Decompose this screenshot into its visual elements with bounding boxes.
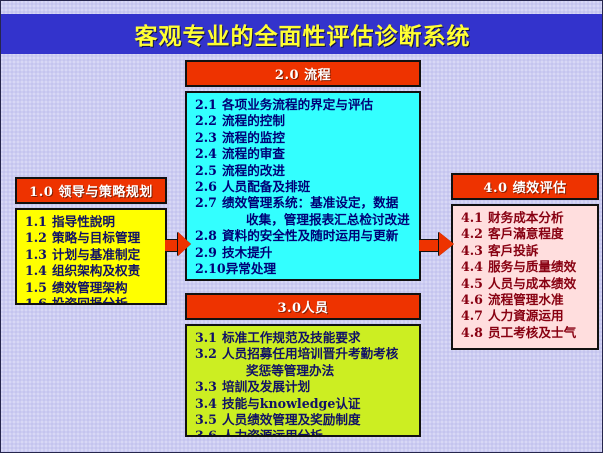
item-number: 2.9 xyxy=(195,245,222,261)
item-number: 1.4 xyxy=(25,263,52,279)
item-text: 投资回报分析 xyxy=(52,296,128,305)
item-number: 3.6 xyxy=(195,428,222,437)
list-item: 4.6 流程管理水准 xyxy=(461,292,595,308)
item-text: 流程的控制 xyxy=(222,113,285,129)
item-number: 3.1 xyxy=(195,330,222,346)
box-header-leadership: 1.0 领导与策略规划 xyxy=(15,177,167,204)
item-text: 财务成本分析 xyxy=(488,210,564,226)
list-item: 2.6 人员配备及排班 xyxy=(195,179,417,195)
box-header-process: 2.0 流程 xyxy=(185,60,421,87)
item-number: 4.8 xyxy=(461,325,488,341)
box-body-leadership: 1.1 指导性說明 1.2 策略与目标管理 1.3 计划与基准制定 1.4 组织… xyxy=(15,208,167,305)
item-number: 4.4 xyxy=(461,259,488,275)
list-item: 2.1 各项业务流程的界定与评估 xyxy=(195,97,417,113)
item-number: 2.8 xyxy=(195,228,222,244)
list-item: 4.5 人员与成本绩效 xyxy=(461,276,595,292)
list-item: 1.3 计划与基准制定 xyxy=(25,247,163,263)
title-banner: 客观专业的全面性评估诊断系统 xyxy=(1,14,603,54)
list-item: 2.9 技木提升 xyxy=(195,245,417,261)
arrow-head xyxy=(439,232,454,256)
item-text: 流程的改进 xyxy=(222,163,285,179)
item-text: 流程的审查 xyxy=(222,146,285,162)
item-text: 策略与目标管理 xyxy=(52,230,140,246)
item-number: 4.7 xyxy=(461,308,488,324)
list-item: 3.2 人员招募任用培训晋升考勤考核 xyxy=(195,346,417,362)
item-number: 2.6 xyxy=(195,179,222,195)
item-number: 4.1 xyxy=(461,210,488,226)
item-text: 技能与knowledge认证 xyxy=(222,396,361,412)
item-number: 2.5 xyxy=(195,163,222,179)
item-text: 员工考核及士气 xyxy=(488,325,576,341)
item-text: 資料的安全性及随时运用与更新 xyxy=(222,228,398,244)
list-item: 1.2 策略与目标管理 xyxy=(25,230,163,246)
item-text: 计划与基准制定 xyxy=(52,247,140,263)
item-text: 客戶滿意程度 xyxy=(488,226,564,242)
item-number: 2.1 xyxy=(195,97,222,113)
item-text: 绩效管理系统：基准设定，数据 xyxy=(222,195,398,211)
item-text: 技木提升 xyxy=(222,245,272,261)
item-text: 异常处理 xyxy=(226,261,276,277)
page-title: 客观专业的全面性评估诊断系统 xyxy=(135,17,471,51)
list-item: 4.1 财务成本分析 xyxy=(461,210,595,226)
list-item: 2.10 异常处理 xyxy=(195,261,417,277)
item-number: 4.6 xyxy=(461,292,488,308)
item-text: 人力資源运用 xyxy=(488,308,564,324)
item-text: 人员配备及排班 xyxy=(222,179,310,195)
list-item: 1.5 绩效管理架构 xyxy=(25,280,163,296)
list-item: 2.4 流程的审查 xyxy=(195,146,417,162)
box-header-people: 3.0人员 xyxy=(185,293,421,320)
item-number: 1.1 xyxy=(25,214,52,230)
list-item: 2.3 流程的监控 xyxy=(195,130,417,146)
list-item: 2.7 绩效管理系统：基准设定，数据 xyxy=(195,195,417,211)
list-item: 2.8 資料的安全性及随时运用与更新 xyxy=(195,228,417,244)
item-text: 人员与成本绩效 xyxy=(488,276,576,292)
list-item: 1.6 投资回报分析 xyxy=(25,296,163,305)
item-text: 收集，管理报表汇总检讨改进 xyxy=(222,212,410,228)
item-text: 绩效管理架构 xyxy=(52,280,128,296)
item-number: 1.2 xyxy=(25,230,52,246)
list-item: 2.2 流程的控制 xyxy=(195,113,417,129)
item-text: 流程管理水准 xyxy=(488,292,564,308)
item-text: 标准工作规范及技能要求 xyxy=(222,330,361,346)
item-text: 客戶投訴 xyxy=(488,243,538,259)
box-body-people: 3.1 标准工作规范及技能要求 3.2 人员招募任用培训晋升考勤考核 奖惩等管理… xyxy=(185,324,421,437)
item-text: 人员招募任用培训晋升考勤考核 xyxy=(222,346,398,362)
list-item: 4.7 人力資源运用 xyxy=(461,308,595,324)
box-body-performance: 4.1 财务成本分析 4.2 客戶滿意程度 4.3 客戶投訴 4.4 服务与质量… xyxy=(451,204,599,350)
list-item: 3.6 人力资源运用分析 xyxy=(195,428,417,437)
item-number: 2.4 xyxy=(195,146,222,162)
list-item: 2.5 流程的改进 xyxy=(195,163,417,179)
list-item: 3.3 培訓及发展计划 xyxy=(195,379,417,395)
arrow-process-to-performance-icon xyxy=(419,232,455,257)
item-number: 1.5 xyxy=(25,280,52,296)
list-item: 3.4 技能与knowledge认证 xyxy=(195,396,417,412)
item-text: 各项业务流程的界定与评估 xyxy=(222,97,373,113)
list-item-continuation: 收集，管理报表汇总检讨改进 xyxy=(195,212,417,228)
item-number: 3.3 xyxy=(195,379,222,395)
box-body-process: 2.1 各项业务流程的界定与评估 2.2 流程的控制 2.3 流程的监控 2.4… xyxy=(185,91,421,281)
item-number: 4.2 xyxy=(461,226,488,242)
arrow-shaft xyxy=(419,239,441,252)
item-number: 3.5 xyxy=(195,412,222,428)
list-item: 3.5 人员绩效管理及奖励制度 xyxy=(195,412,417,428)
item-text: 人员绩效管理及奖励制度 xyxy=(222,412,361,428)
item-number: 1.3 xyxy=(25,247,52,263)
item-text: 培訓及发展计划 xyxy=(222,379,310,395)
item-number: 4.5 xyxy=(461,276,488,292)
list-item: 4.4 服务与质量绩效 xyxy=(461,259,595,275)
item-text: 组织架构及权责 xyxy=(52,263,140,279)
item-number xyxy=(195,212,222,228)
item-number: 1.6 xyxy=(25,296,52,305)
list-item: 4.3 客戶投訴 xyxy=(461,243,595,259)
item-number: 4.3 xyxy=(461,243,488,259)
list-item-continuation: 奖惩等管理办法 xyxy=(195,363,417,379)
box-header-performance: 4.0 绩效评估 xyxy=(451,173,599,200)
item-text: 指导性說明 xyxy=(52,214,115,230)
item-number: 2.7 xyxy=(195,195,222,211)
list-item: 4.2 客戶滿意程度 xyxy=(461,226,595,242)
item-number: 2.2 xyxy=(195,113,222,129)
list-item: 3.1 标准工作规范及技能要求 xyxy=(195,330,417,346)
item-text: 奖惩等管理办法 xyxy=(222,363,334,379)
item-number xyxy=(195,363,222,379)
item-text: 人力资源运用分析 xyxy=(222,428,323,437)
arrow-leadership-to-process-icon xyxy=(165,232,191,257)
item-number: 2.10 xyxy=(195,261,226,277)
item-number: 2.3 xyxy=(195,130,222,146)
slide-canvas: 客观专业的全面性评估诊断系统 1.0 领导与策略规划 1.1 指导性說明 1.2… xyxy=(0,0,603,453)
list-item: 1.1 指导性說明 xyxy=(25,214,163,230)
item-number: 3.2 xyxy=(195,346,222,362)
arrow-head xyxy=(178,232,191,256)
item-text: 流程的监控 xyxy=(222,130,285,146)
item-number: 3.4 xyxy=(195,396,222,412)
list-item: 4.8 员工考核及士气 xyxy=(461,325,595,341)
list-item: 1.4 组织架构及权责 xyxy=(25,263,163,279)
item-text: 服务与质量绩效 xyxy=(488,259,576,275)
